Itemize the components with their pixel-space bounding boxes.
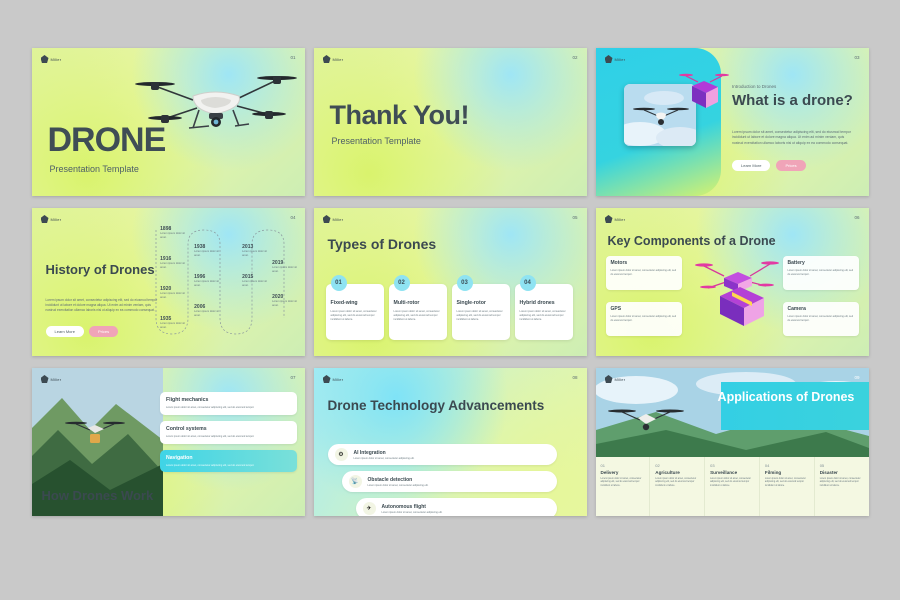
column-number: 02 xyxy=(655,463,699,468)
card-description: Lorem ipsum dolor sit amet, consectetur … xyxy=(331,310,379,322)
slide-content: Introduction to Drones What is a drone? … xyxy=(596,48,869,196)
card-title: Fixed-wing xyxy=(331,300,379,306)
item-description: Lorem ipsum dolor sit amet, consectetur … xyxy=(166,464,291,468)
brand-logo: Milier xyxy=(41,55,62,63)
column-number: 01 xyxy=(601,463,645,468)
page-title: How Drones Work xyxy=(42,489,154,504)
column-title: Disaster xyxy=(820,470,864,475)
ai-chip-icon: ⚙ xyxy=(335,448,348,461)
application-column-delivery[interactable]: 01 Delivery Lorem ipsum dolor sit amet, … xyxy=(596,457,651,516)
brand-logo: Milier xyxy=(41,215,62,223)
page-title: Key Components of a Drone xyxy=(608,234,776,248)
body-text: Lorem ipsum dolor sit amet, consectetur … xyxy=(46,298,161,313)
component-card-battery[interactable]: Battery Lorem ipsum dolor sit amet, cons… xyxy=(783,256,859,290)
process-list: Flight mechanics Lorem ipsum dolor sit a… xyxy=(160,392,297,478)
card-title: Multi-rotor xyxy=(394,300,442,306)
slide-how-drones-work[interactable]: Milier 07 How Drones Work Flight mechani… xyxy=(32,368,305,516)
timeline-entry: 1938 Lorem ipsum dolor sit amet. xyxy=(194,244,224,258)
timeline-text: Lorem ipsum dolor sit amet. xyxy=(160,262,190,270)
slide-history[interactable]: Milier 04 History of Drones Lorem ipsum … xyxy=(32,208,305,356)
page-number: 09 xyxy=(854,375,859,380)
eyebrow-label: Introduction to Drones xyxy=(732,84,776,89)
brand-logo: Milier xyxy=(323,215,344,223)
advancement-row-obstacle-detection[interactable]: 📡 Obstacle detection Lorem ipsum dolor s… xyxy=(342,471,557,492)
component-card-gps[interactable]: GPS Lorem ipsum dolor sit amet, consecte… xyxy=(606,302,682,336)
advancement-list: ⚙ AI Integration Lorem ipsum dolor sit a… xyxy=(328,444,557,516)
card-description: Lorem ipsum dolor sit amet, consectetur … xyxy=(611,269,677,277)
column-description: Lorem ipsum dolor sit amet, consectetur … xyxy=(601,478,645,489)
item-title: Flight mechanics xyxy=(166,397,291,403)
slide-what-is-a-drone[interactable]: Milier 03 xyxy=(596,48,869,196)
card-number-badge: 02 xyxy=(394,275,410,291)
pentagon-mark-icon xyxy=(323,55,331,63)
pentagon-mark-icon xyxy=(323,375,331,383)
page-number: 05 xyxy=(572,215,577,220)
slide-content: Applications of Drones 01 Delivery Lorem… xyxy=(596,368,869,516)
timeline-entry: 2015 Lorem ipsum dolor sit amet. xyxy=(242,274,272,288)
item-title: Control systems xyxy=(166,426,291,432)
page-title: What is a drone? xyxy=(732,93,853,110)
drone-type-card[interactable]: 01 Fixed-wing Lorem ipsum dolor sit amet… xyxy=(326,284,384,340)
advancement-row-autonomous-flight[interactable]: ✈ Autonomous flight Lorem ipsum dolor si… xyxy=(356,498,557,516)
brand-name: Milier xyxy=(333,377,344,382)
brand-name: Milier xyxy=(615,217,626,222)
card-title: Hybrid drones xyxy=(520,300,568,306)
slide-content: Key Components of a Drone xyxy=(596,208,869,356)
pentagon-mark-icon xyxy=(41,375,49,383)
timeline-text: Lorem ipsum dolor sit amet. xyxy=(242,280,272,288)
column-title: Surveillance xyxy=(710,470,754,475)
timeline-text: Lorem ipsum dolor sit amet. xyxy=(272,266,302,274)
pentagon-mark-icon xyxy=(41,55,49,63)
process-item-navigation[interactable]: Navigation Lorem ipsum dolor sit amet, c… xyxy=(160,450,297,473)
button-group: Learn More Prices xyxy=(46,326,119,337)
item-title: Navigation xyxy=(166,455,291,461)
page-subtitle: Presentation Template xyxy=(50,164,139,174)
card-description: Lorem ipsum dolor sit amet, consectetur … xyxy=(788,269,854,277)
timeline-entry: 1996 Lorem ipsum dolor sit amet. xyxy=(194,274,224,288)
brand-name: Milier xyxy=(333,57,344,62)
body-text: Lorem ipsum dolor sit amet, consectetur … xyxy=(732,130,852,146)
column-title: Delivery xyxy=(601,470,645,475)
slide-key-components[interactable]: Milier 06 Key Components of a Drone xyxy=(596,208,869,356)
column-description: Lorem ipsum dolor sit amet, consectetur … xyxy=(765,478,809,489)
item-description: Lorem ipsum dolor sit amet, consectetur … xyxy=(166,435,291,439)
page-title: Thank You! xyxy=(330,100,470,131)
page-number: 04 xyxy=(290,215,295,220)
timeline-entry: 2013 Lorem ipsum dolor sit amet. xyxy=(242,244,272,258)
application-column-agriculture[interactable]: 02 Agriculture Lorem ipsum dolor sit ame… xyxy=(650,457,705,516)
column-number: 03 xyxy=(710,463,754,468)
timeline-entry: 1935 Lorem ipsum dolor sit amet. xyxy=(160,316,190,330)
card-number-badge: 01 xyxy=(331,275,347,291)
page-number: 02 xyxy=(572,55,577,60)
application-column-filming[interactable]: 04 Filming Lorem ipsum dolor sit amet, c… xyxy=(760,457,815,516)
pentagon-mark-icon xyxy=(605,55,613,63)
timeline-text: Lorem ipsum dolor sit amet. xyxy=(160,232,190,240)
timeline-entry: 2019 Lorem ipsum dolor sit amet. xyxy=(272,260,302,274)
slide-tech-advancements[interactable]: Milier 08 Drone Technology Advancements … xyxy=(314,368,587,516)
card-title: Camera xyxy=(788,306,854,312)
slide-grid: Milier 01 xyxy=(22,48,878,516)
advancement-row-ai-integration[interactable]: ⚙ AI Integration Lorem ipsum dolor sit a… xyxy=(328,444,557,465)
learn-more-button[interactable]: Learn More xyxy=(46,326,84,337)
column-title: Filming xyxy=(765,470,809,475)
card-description: Lorem ipsum dolor sit amet, consectetur … xyxy=(611,315,677,323)
brand-logo: Milier xyxy=(41,375,62,383)
brand-name: Milier xyxy=(51,57,62,62)
card-number-badge: 03 xyxy=(457,275,473,291)
drone-icon: ✈ xyxy=(363,502,376,515)
slide-types-of-drones[interactable]: Milier 05 Types of Drones 01 Fixed-wing … xyxy=(314,208,587,356)
card-description: Lorem ipsum dolor sit amet, consectetur … xyxy=(788,315,854,323)
pentagon-mark-icon xyxy=(605,215,613,223)
column-number: 05 xyxy=(820,463,864,468)
gift-box-graphic xyxy=(678,68,730,114)
prices-button[interactable]: Prices xyxy=(89,326,118,337)
pentagon-mark-icon xyxy=(41,215,49,223)
button-group: Learn More Prices xyxy=(732,160,806,171)
process-item-control-systems[interactable]: Control systems Lorem ipsum dolor sit am… xyxy=(160,421,297,444)
page-number: 06 xyxy=(854,215,859,220)
brand-logo: Milier xyxy=(605,55,626,63)
drone-gift-graphic xyxy=(694,256,784,332)
page-title: Applications of Drones xyxy=(718,390,860,404)
timeline-entry: 2006 Lorem ipsum dolor sit amet. xyxy=(194,304,224,318)
timeline-entry: 2020 Lorem ipsum dolor sit amet. xyxy=(272,294,302,308)
component-card-camera[interactable]: Camera Lorem ipsum dolor sit amet, conse… xyxy=(783,302,859,336)
timeline-text: Lorem ipsum dolor sit amet. xyxy=(272,300,302,308)
prices-button[interactable]: Prices xyxy=(776,160,805,171)
row-title: Autonomous flight xyxy=(382,504,443,510)
column-description: Lorem ipsum dolor sit amet, consectetur … xyxy=(655,478,699,489)
application-columns: 01 Delivery Lorem ipsum dolor sit amet, … xyxy=(596,457,869,516)
slide-thank-you[interactable]: Milier 02 Thank You! Presentation Templa… xyxy=(314,48,587,196)
brand-name: Milier xyxy=(51,377,62,382)
drone-type-card[interactable]: 02 Multi-rotor Lorem ipsum dolor sit ame… xyxy=(389,284,447,340)
card-number-badge: 04 xyxy=(520,275,536,291)
timeline-entry: 1916 Lorem ipsum dolor sit amet. xyxy=(160,256,190,270)
brand-logo: Milier xyxy=(323,55,344,63)
slide-content: History of Drones Lorem ipsum dolor sit … xyxy=(32,208,305,356)
drone-type-card-list: 01 Fixed-wing Lorem ipsum dolor sit amet… xyxy=(326,284,573,340)
item-description: Lorem ipsum dolor sit amet, consectetur … xyxy=(166,406,291,410)
timeline-text: Lorem ipsum dolor sit amet. xyxy=(194,280,224,288)
drone-type-card[interactable]: 04 Hybrid drones Lorem ipsum dolor sit a… xyxy=(515,284,573,340)
component-card-motors[interactable]: Motors Lorem ipsum dolor sit amet, conse… xyxy=(606,256,682,290)
page-number: 08 xyxy=(572,375,577,380)
page-number: 07 xyxy=(290,375,295,380)
page-title: History of Drones xyxy=(46,263,155,278)
slide-content: How Drones Work Flight mechanics Lorem i… xyxy=(32,368,305,516)
page-subtitle: Presentation Template xyxy=(332,136,421,146)
timeline-text: Lorem ipsum dolor sit amet. xyxy=(194,250,224,258)
column-title: Agriculture xyxy=(655,470,699,475)
drone-type-card[interactable]: 03 Single-rotor Lorem ipsum dolor sit am… xyxy=(452,284,510,340)
card-title: Motors xyxy=(611,260,677,266)
pentagon-mark-icon xyxy=(605,375,613,383)
page-number: 01 xyxy=(290,55,295,60)
timeline-text: Lorem ipsum dolor sit amet. xyxy=(242,250,272,258)
card-description: Lorem ipsum dolor sit amet, consectetur … xyxy=(520,310,568,322)
timeline-text: Lorem ipsum dolor sit amet. xyxy=(194,310,224,318)
slide-content: Thank You! Presentation Template xyxy=(314,48,587,196)
slide-content: DRONE Presentation Template xyxy=(32,48,305,196)
column-number: 04 xyxy=(765,463,809,468)
history-timeline: 1898 Lorem ipsum dolor sit amet. 1916 Lo… xyxy=(146,222,304,342)
radar-icon: 📡 xyxy=(349,475,362,488)
brand-logo: Milier xyxy=(323,375,344,383)
process-item-flight-mechanics[interactable]: Flight mechanics Lorem ipsum dolor sit a… xyxy=(160,392,297,415)
brand-name: Milier xyxy=(51,217,62,222)
row-description: Lorem ipsum dolor sit amet, consectetur … xyxy=(382,511,443,514)
card-title: Single-rotor xyxy=(457,300,505,306)
slide-deck-board: Milier 01 xyxy=(0,0,900,600)
brand-name: Milier xyxy=(333,217,344,222)
slide-content: Drone Technology Advancements ⚙ AI Integ… xyxy=(314,368,587,516)
slide-cover[interactable]: Milier 01 xyxy=(32,48,305,196)
card-description: Lorem ipsum dolor sit amet, consectetur … xyxy=(457,310,505,322)
brand-logo: Milier xyxy=(605,375,626,383)
timeline-text: Lorem ipsum dolor sit amet. xyxy=(160,292,190,300)
card-title: Battery xyxy=(788,260,854,266)
timeline-entry: 1898 Lorem ipsum dolor sit amet. xyxy=(160,226,190,240)
brand-name: Milier xyxy=(615,57,626,62)
column-description: Lorem ipsum dolor sit amet, consectetur … xyxy=(820,478,864,489)
card-title: GPS xyxy=(611,306,677,312)
timeline-entry: 1920 Lorem ipsum dolor sit amet. xyxy=(160,286,190,300)
page-title: DRONE xyxy=(48,121,166,160)
application-column-disaster[interactable]: 05 Disaster Lorem ipsum dolor sit amet, … xyxy=(815,457,869,516)
page-number: 03 xyxy=(854,55,859,60)
card-description: Lorem ipsum dolor sit amet, consectetur … xyxy=(394,310,442,322)
page-title: Types of Drones xyxy=(328,236,437,252)
application-column-surveillance[interactable]: 03 Surveillance Lorem ipsum dolor sit am… xyxy=(705,457,760,516)
brand-logo: Milier xyxy=(605,215,626,223)
page-title: Drone Technology Advancements xyxy=(328,398,545,414)
pentagon-mark-icon xyxy=(323,215,331,223)
row-description: Lorem ipsum dolor sit amet, consectetur … xyxy=(368,484,429,487)
brand-name: Milier xyxy=(615,377,626,382)
row-title: AI Integration xyxy=(354,450,415,456)
row-description: Lorem ipsum dolor sit amet, consectetur … xyxy=(354,457,415,460)
learn-more-button[interactable]: Learn More xyxy=(732,160,770,171)
slide-applications[interactable]: Milier 09 Applications of Drones 01 Deli… xyxy=(596,368,869,516)
row-title: Obstacle detection xyxy=(368,477,429,483)
timeline-text: Lorem ipsum dolor sit amet. xyxy=(160,322,190,330)
slide-content: Types of Drones 01 Fixed-wing Lorem ipsu… xyxy=(314,208,587,356)
column-description: Lorem ipsum dolor sit amet, consectetur … xyxy=(710,478,754,489)
